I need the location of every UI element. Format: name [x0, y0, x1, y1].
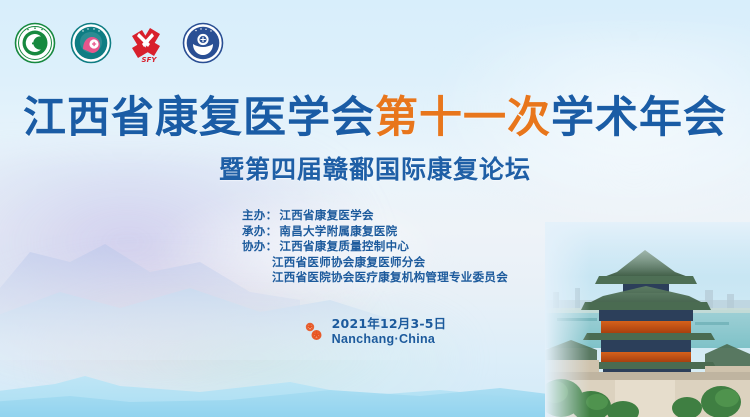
jiangxi-rehab-medicine-association-logo	[14, 22, 56, 64]
sub-title: 暨第四届赣鄱国际康复论坛	[0, 150, 750, 186]
date-chinese: 2021年12月3-5日	[332, 316, 447, 331]
organizer-value: 江西省康复医学会	[279, 208, 373, 222]
organizer-value: 江西省康复质量控制中心	[279, 239, 409, 253]
organizer-value: 江西省医院协会医疗康复机构管理专业委员会	[272, 270, 508, 284]
conference-banner: SFY 江西省康复医学会第十一次学术年会 暨第四届赣鄱国际康复论坛	[0, 0, 750, 417]
organizer-label: 主办：	[242, 208, 277, 222]
nanchang-university-affiliated-rehab-hospital-logo	[70, 22, 112, 64]
main-title-highlight: 第十一次	[375, 93, 551, 143]
organizer-value: 南昌大学附属康复医院	[279, 224, 397, 238]
organizer-row-coorganizer-3: 江西省医院协会医疗康复机构管理专业委员会	[242, 270, 508, 286]
organizer-label: 承办：	[242, 224, 277, 238]
title-block: 江西省康复医学会第十一次学术年会 暨第四届赣鄱国际康复论坛	[0, 96, 750, 186]
organizer-label: 协办：	[242, 239, 277, 253]
date-block: 2021年12月3-5日 Nanchang·China	[0, 316, 750, 347]
organizer-value: 江西省医师协会康复医师分会	[272, 255, 425, 269]
main-title: 江西省康复医学会第十一次学术年会	[0, 96, 750, 141]
logo-row: SFY	[14, 22, 224, 64]
jiangxi-rehab-quality-control-center-logo	[182, 22, 224, 64]
date-location-english: Nanchang·China	[332, 331, 447, 347]
main-title-part2: 学术年会	[551, 93, 727, 143]
organizer-row-host: 主办：江西省康复医学会	[242, 208, 508, 224]
svg-text:SFY: SFY	[142, 56, 158, 64]
organizer-row-coorganizer: 协办：江西省康复质量控制中心	[242, 239, 508, 255]
organizer-row-undertaker: 承办：南昌大学附属康复医院	[242, 224, 508, 240]
organizers-block: 主办：江西省康复医学会 承办：南昌大学附属康复医院 协办：江西省康复质量控制中心…	[0, 208, 750, 286]
sfy-first-affiliated-hospital-logo: SFY	[126, 22, 168, 64]
main-title-part1: 江西省康复医学会	[23, 93, 375, 143]
organizers-list: 主办：江西省康复医学会 承办：南昌大学附属康复医院 协办：江西省康复质量控制中心…	[242, 208, 508, 286]
red-seal-icon	[304, 321, 324, 343]
organizer-row-coorganizer-2: 江西省医师协会康复医师分会	[242, 255, 508, 271]
